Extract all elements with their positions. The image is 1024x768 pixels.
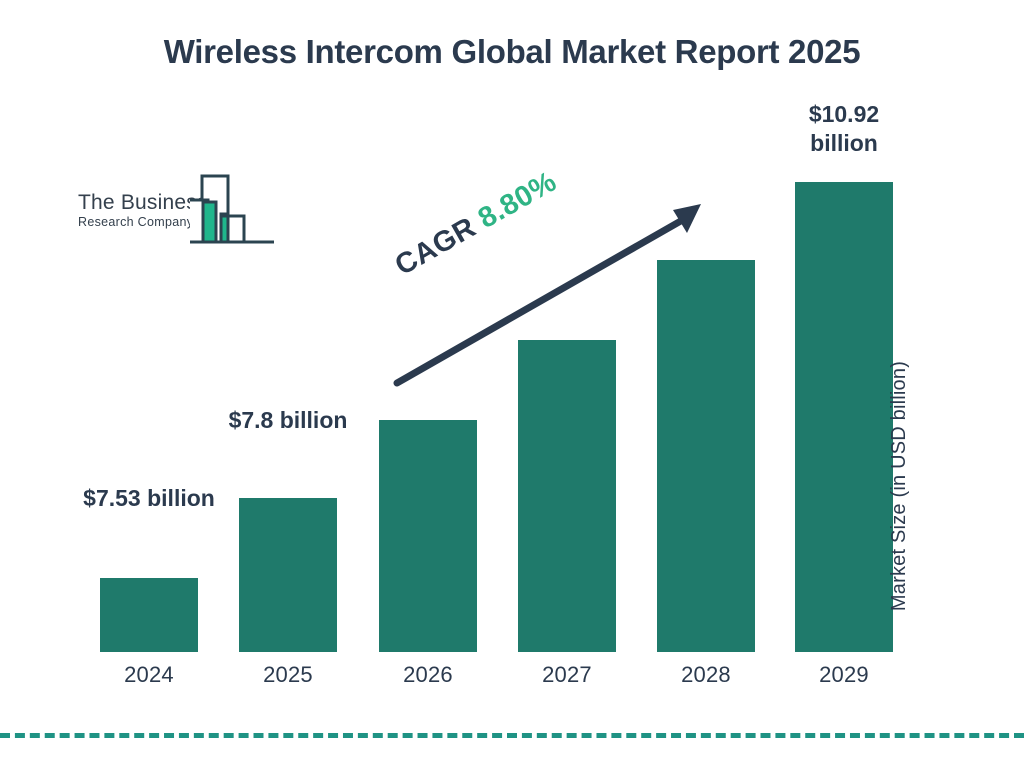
bar-value-text-2025: $7.8 billion (229, 407, 348, 433)
bar-2025 (239, 498, 337, 652)
bar-2028 (657, 260, 755, 652)
cagr-annotation: CAGR 8.80% (390, 166, 563, 283)
chart-canvas: Wireless Intercom Global Market Report 2… (0, 0, 1024, 768)
x-tick-2025: 2025 (239, 662, 337, 688)
x-tick-2024: 2024 (100, 662, 198, 688)
bar-2029 (795, 182, 893, 652)
x-tick-2029: 2029 (795, 662, 893, 688)
bar-value-text-2024: $7.53 billion (83, 485, 215, 511)
bar-value-label-2024: $7.53 billion (79, 484, 219, 513)
bar-2027 (518, 340, 616, 652)
x-tick-2027: 2027 (518, 662, 616, 688)
bar-2024 (100, 578, 198, 652)
bar-value-text-2029: $10.92 billion (809, 101, 879, 156)
y-axis-title: Market Size (in USD billion) (888, 306, 911, 666)
plot-area: $7.53 billion $7.8 billion $10.92 billio… (0, 0, 1024, 768)
cagr-label: CAGR (390, 211, 481, 282)
bar-2026 (379, 420, 477, 652)
x-tick-2026: 2026 (379, 662, 477, 688)
cagr-value: 8.80% (473, 166, 562, 235)
bar-value-label-2029: $10.92 billion (774, 100, 914, 159)
x-tick-2028: 2028 (657, 662, 755, 688)
footer-divider (0, 733, 1024, 738)
bar-value-label-2025: $7.8 billion (218, 406, 358, 435)
